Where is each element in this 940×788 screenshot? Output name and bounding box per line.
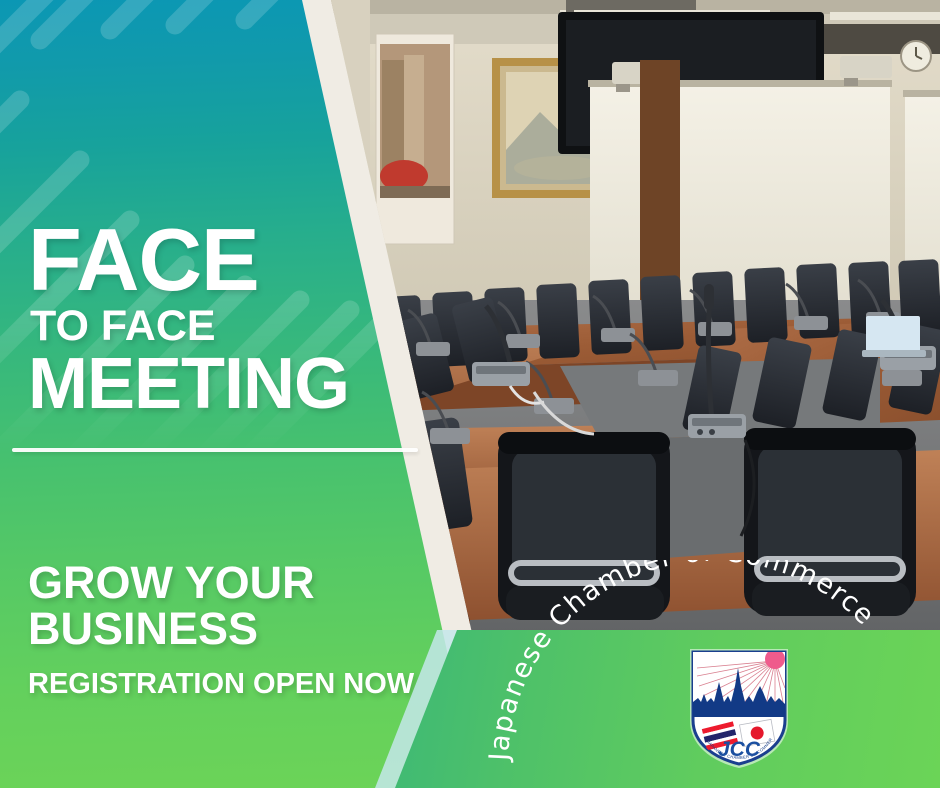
logo-sun	[765, 649, 785, 669]
headline-line-2: TO FACE	[30, 306, 448, 347]
headline-line-1: FACE	[28, 218, 448, 302]
headline-block: FACE TO FACE MEETING	[28, 218, 448, 419]
headline-line-3: MEETING	[28, 350, 448, 419]
subheadline-line-2: BUSINESS	[28, 606, 498, 652]
subheadline-line-1: GROW YOUR	[28, 560, 498, 606]
jcc-logo: JAPANESE CHAMBER OF COMMERCE BANGKOK JCC	[683, 646, 795, 770]
logo-band	[693, 707, 785, 717]
logo-acronym: JCC	[718, 738, 761, 761]
poster-canvas: FACE TO FACE MEETING GROW YOUR BUSINESS …	[0, 0, 940, 788]
headline-divider	[12, 448, 418, 452]
